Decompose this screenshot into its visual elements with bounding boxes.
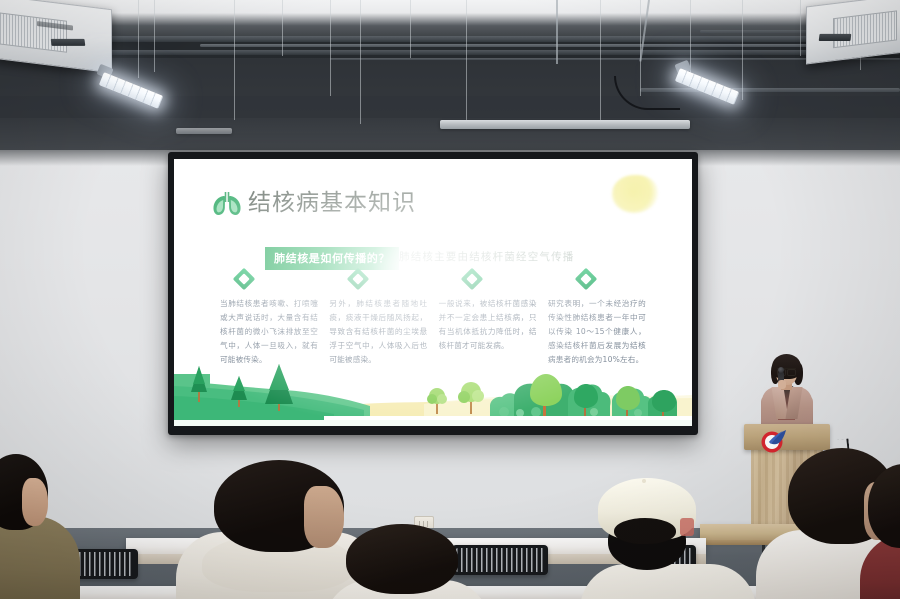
ceiling-beam (0, 40, 900, 58)
cap-accent (680, 518, 694, 536)
ceiling-pipe (200, 44, 900, 47)
ac-vent (51, 39, 86, 46)
hanger-rod (282, 0, 283, 56)
slide-section-subtitle: 肺结核主要由结核杆菌经空气传播 (399, 249, 575, 264)
ac-grille (0, 12, 67, 52)
green-landscape-illustration (174, 334, 692, 426)
projection-screen[interactable]: 结核病基本知识 肺结核是如何传播的？ 肺结核主要由结核杆菌经空气传播 当肺结核患… (168, 152, 698, 435)
ceiling (0, 0, 900, 152)
forest (490, 374, 677, 417)
hanger-rod (410, 0, 411, 58)
audience-member (330, 524, 480, 599)
track-light (176, 128, 232, 134)
hanger-rod (600, 0, 601, 120)
pine-tree (265, 364, 293, 411)
presenter (752, 354, 822, 432)
diamond-icon (233, 268, 256, 291)
cap-rear-opening (614, 518, 676, 544)
air-conditioner-cassette (0, 0, 112, 73)
hanger-rod (234, 0, 235, 120)
person-torso (580, 564, 756, 599)
hanger-rod (138, 0, 139, 78)
bullet-markers (174, 271, 692, 289)
slide-title: 结核病基本知识 (248, 183, 416, 217)
ac-vent (819, 34, 852, 41)
presenter-hand (778, 380, 786, 389)
hanger-rod (800, 0, 801, 56)
audience-member (868, 464, 900, 599)
hanger-rod (742, 0, 743, 100)
hanger-rod (556, 0, 558, 64)
lecture-hall-scene: 结核病基本知识 肺结核是如何传播的？ 肺结核主要由结核杆菌经空气传播 当肺结核患… (0, 0, 900, 599)
audience-member (594, 478, 724, 599)
cap-button (642, 479, 646, 483)
diamond-icon (575, 268, 598, 291)
hanger-rod (360, 0, 361, 124)
hanger-rod (154, 0, 155, 72)
audience-member (0, 454, 74, 599)
diamond-icon (461, 268, 484, 291)
ceiling-pipe (0, 36, 900, 42)
lungs-icon (210, 189, 244, 217)
ac-grille (833, 10, 897, 48)
track-light (440, 120, 690, 129)
ceiling-pipe (110, 50, 900, 55)
slide-section-tag: 肺结核是如何传播的？ (265, 247, 399, 270)
hanger-rod (330, 0, 331, 96)
person-head (868, 464, 900, 548)
presentation-slide: 结核病基本知识 肺结核是如何传播的？ 肺结核主要由结核杆菌经空气传播 当肺结核患… (174, 159, 692, 426)
diamond-icon (347, 268, 370, 291)
sun-icon (612, 175, 658, 213)
person-head (346, 524, 458, 594)
person-face-edge (22, 478, 48, 526)
hanger-rod (466, 0, 467, 124)
